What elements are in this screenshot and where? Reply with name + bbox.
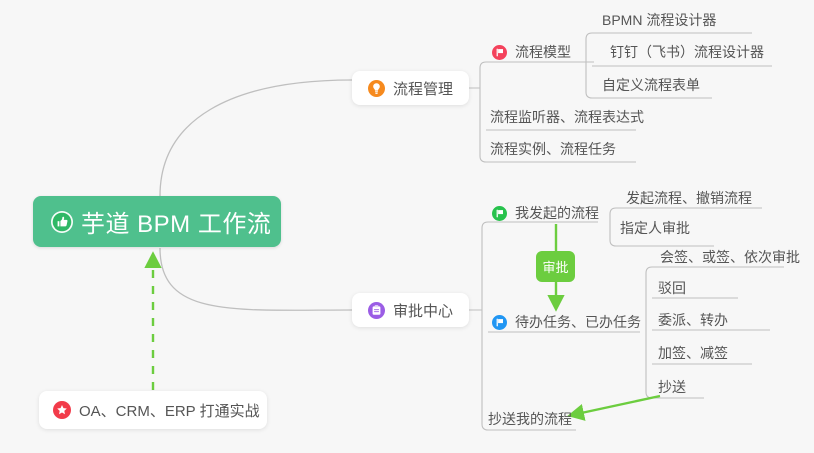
node-cc-to-me-label: 抄送我的流程 — [488, 409, 572, 429]
node-cc-to-me[interactable]: 抄送我的流程 — [488, 409, 572, 429]
approval-tag-label: 审批 — [542, 257, 568, 276]
node-dingtalk-feishu-designer-label: 钉钉（飞书）流程设计器 — [610, 42, 764, 62]
flag-circle-blue-icon — [492, 315, 507, 330]
node-my-initiated-label: 我发起的流程 — [515, 203, 599, 223]
node-reject-label: 驳回 — [658, 278, 686, 298]
branch-process-management-label: 流程管理 — [393, 78, 453, 99]
node-delegate-transfer[interactable]: 委派、转办 — [658, 310, 728, 330]
lightbulb-icon — [368, 80, 385, 97]
node-add-remove-sign[interactable]: 加签、减签 — [658, 343, 728, 363]
node-start-cancel[interactable]: 发起流程、撤销流程 — [626, 188, 752, 208]
node-bpmn-designer[interactable]: BPMN 流程设计器 — [602, 10, 716, 30]
node-cc-label: 抄送 — [658, 377, 686, 397]
node-cc[interactable]: 抄送 — [658, 377, 686, 397]
arrow-cc-to-ccmine — [572, 396, 660, 415]
node-start-cancel-label: 发起流程、撤销流程 — [626, 188, 752, 208]
root-label: 芋道 BPM 工作流 — [81, 204, 271, 239]
node-my-initiated[interactable]: 我发起的流程 — [492, 203, 599, 223]
thumbs-up-icon — [51, 211, 73, 233]
mindmap-canvas: 芋道 BPM 工作流 流程管理 流程模型 BPMN 流程设计器 钉钉（飞书）流程 — [0, 0, 814, 453]
bottom-note-label: OA、CRM、ERP 打通实战 — [79, 400, 260, 421]
node-listener-expression-label: 流程监听器、流程表达式 — [490, 107, 644, 127]
node-listener-expression[interactable]: 流程监听器、流程表达式 — [490, 107, 644, 127]
node-instance-task-label: 流程实例、流程任务 — [490, 139, 616, 159]
node-countersign[interactable]: 会签、或签、依次审批 — [660, 247, 800, 267]
node-todo-done-tasks[interactable]: 待办任务、已办任务 — [492, 312, 641, 332]
node-process-model[interactable]: 流程模型 — [492, 42, 571, 62]
clipboard-purple-icon — [368, 302, 385, 319]
root-node[interactable]: 芋道 BPM 工作流 — [33, 196, 281, 247]
node-process-model-label: 流程模型 — [515, 42, 571, 62]
node-bpmn-designer-label: BPMN 流程设计器 — [602, 10, 716, 30]
node-instance-task[interactable]: 流程实例、流程任务 — [490, 139, 616, 159]
connector-root-to-approval-center — [160, 248, 352, 310]
node-todo-done-tasks-label: 待办任务、已办任务 — [515, 312, 641, 332]
branch-approval-center-label: 审批中心 — [393, 300, 453, 321]
connector-root-to-process-management — [160, 80, 352, 196]
node-dingtalk-feishu-designer[interactable]: 钉钉（飞书）流程设计器 — [610, 42, 764, 62]
node-delegate-transfer-label: 委派、转办 — [658, 310, 728, 330]
node-assignee-approval[interactable]: 指定人审批 — [620, 218, 690, 238]
node-assignee-approval-label: 指定人审批 — [620, 218, 690, 238]
node-custom-process-form-label: 自定义流程表单 — [602, 75, 700, 95]
approval-tag: 审批 — [536, 251, 575, 282]
branch-process-management[interactable]: 流程管理 — [352, 71, 469, 105]
bottom-note[interactable]: OA、CRM、ERP 打通实战 — [39, 391, 267, 429]
branch-approval-center[interactable]: 审批中心 — [352, 293, 469, 327]
node-reject[interactable]: 驳回 — [658, 278, 686, 298]
node-countersign-label: 会签、或签、依次审批 — [660, 247, 800, 267]
flag-circle-green-icon — [492, 206, 507, 221]
node-add-remove-sign-label: 加签、减签 — [658, 343, 728, 363]
node-custom-process-form[interactable]: 自定义流程表单 — [602, 75, 700, 95]
star-circle-red-icon — [53, 401, 71, 419]
flag-circle-red-icon — [492, 45, 507, 60]
